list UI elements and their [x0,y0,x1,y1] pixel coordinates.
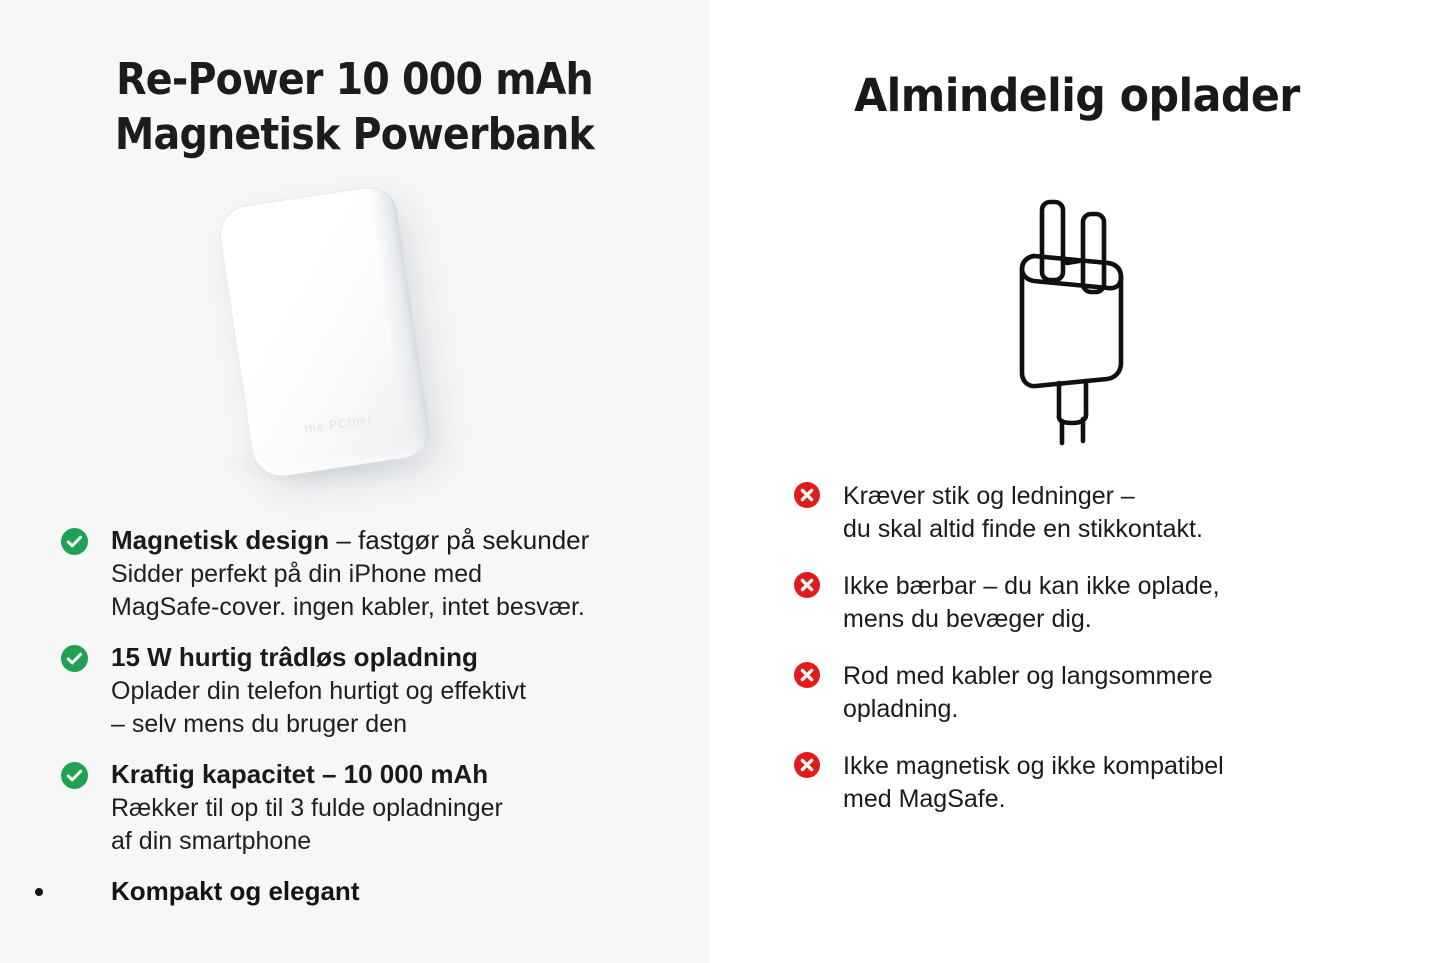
list-item: Ikke bærbar – du kan ikke oplade, mens d… [787,570,1387,636]
cross-circle-icon [794,662,820,688]
charger-illustration [709,185,1445,455]
drawback-text: Ikke bærbar – du kan ikke oplade, mens d… [843,570,1387,636]
check-circle-icon [61,762,88,789]
list-item: Ikke magnetisk og ikke kompatibel med Ma… [787,750,1387,816]
feature-heading: Kraftig kapacitet – 10 000 mAh [111,758,688,791]
left-panel-title: Re-Power 10 000 mAh Magnetisk Powerbank [35,52,673,162]
feature-subtext: Sidder perfekt på din iPhone med MagSafe… [111,558,688,624]
drawback-list: Kræver stik og ledninger – du skal altid… [787,480,1387,816]
feature-list: Magnetisk design – fastgør på sekunder S… [58,524,688,908]
wall-charger-line-art-icon [986,185,1168,447]
list-item: 15 W hurtig trâdløs opladning Oplader di… [58,641,688,741]
right-panel-title: Almindelig oplader [727,68,1426,124]
check-circle-icon [61,645,88,672]
feature-heading-bold: 15 W hurtig trâdløs opladning [111,642,478,672]
check-circle-icon [61,528,88,555]
right-panel-ordinary-charger: Almindelig oplader [709,0,1445,963]
feature-heading-rest: – fastgør på sekunder [329,525,589,555]
left-panel-powerbank: Re-Power 10 000 mAh Magnetisk Powerbank … [0,0,709,963]
feature-heading: Magnetisk design – fastgør på sekunder [111,524,688,557]
drawback-text: Kræver stik og ledninger – du skal altid… [843,480,1387,546]
cross-circle-icon [794,572,820,598]
cross-circle-icon [794,752,820,778]
feature-heading: 15 W hurtig trâdløs opladning [111,641,688,674]
cross-circle-icon [794,482,820,508]
list-item: Kraftig kapacitet – 10 000 mAh Rækker ti… [58,758,688,858]
feature-subtext: Rækker til op til 3 fulde opladninger af… [111,792,688,858]
product-comparison-infographic: Re-Power 10 000 mAh Magnetisk Powerbank … [0,0,1445,963]
powerbank-brand-label: the PCIner [304,412,374,436]
drawback-text: Ikke magnetisk og ikke kompatibel med Ma… [843,750,1387,816]
closing-tagline: Kompakt og elegant [58,875,688,908]
feature-subtext: Oplader din telefon hurtigt og effektivt… [111,675,688,741]
powerbank-product-image: the PCIner [0,178,709,518]
drawback-text: Rod med kabler og langsommere opladning. [843,660,1387,726]
list-item: Kræver stik og ledninger – du skal altid… [787,480,1387,546]
list-item: Rod med kabler og langsommere opladning. [787,660,1387,726]
feature-heading-bold: Magnetisk design [111,525,329,555]
powerbank-device-body: the PCIner [217,184,433,479]
feature-heading-bold: Kraftig kapacitet – 10 000 mAh [111,759,488,789]
list-item: Magnetisk design – fastgør på sekunder S… [58,524,688,624]
